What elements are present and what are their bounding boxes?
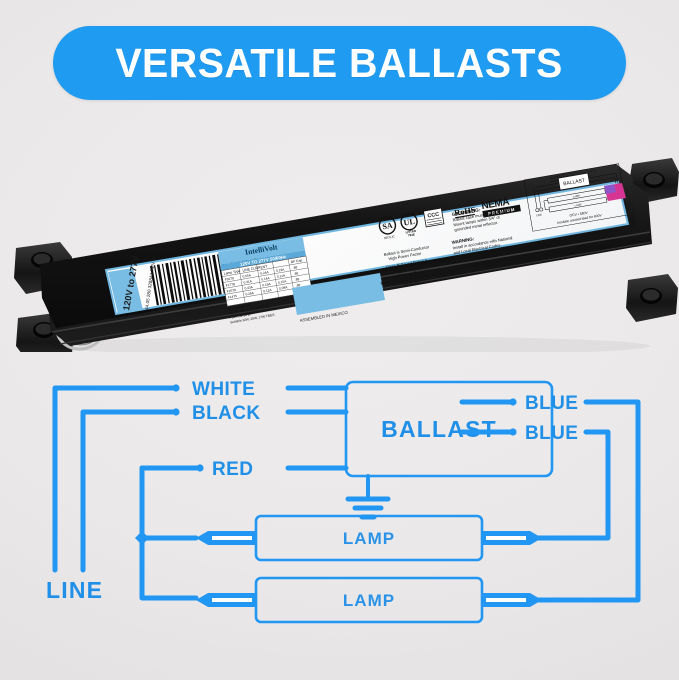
ballast-box-label: BALLAST — [381, 416, 497, 442]
svg-text:.88: .88 — [293, 271, 298, 276]
blue2-terminal — [509, 428, 516, 435]
mounting-bracket-right-top — [626, 274, 678, 322]
lamp-2: LAMP — [196, 578, 542, 622]
svg-text:UL: UL — [403, 217, 415, 228]
label-black: BLACK — [192, 403, 261, 424]
svg-text:.88: .88 — [295, 277, 300, 282]
red-wire-to-lamp2 — [142, 538, 196, 598]
black-wire-terminal — [172, 408, 179, 415]
ccc-mark: CCC — [423, 208, 443, 227]
page-title: VERSATILE BALLASTS — [116, 43, 563, 84]
red-wire-junction — [135, 531, 149, 545]
line-wire-white — [55, 388, 175, 570]
label-blue-2: BLUE — [525, 423, 578, 444]
red-wire-terminal — [196, 464, 203, 471]
wiring-diagram: WHITE BLACK RED BALLAST — [0, 358, 679, 680]
product-photo: 120V to 277V — [0, 132, 679, 352]
lamp-2-label: LAMP — [343, 591, 395, 610]
pink-tag — [604, 183, 626, 201]
label-red: RED — [212, 459, 253, 480]
white-wire-terminal — [172, 384, 179, 391]
lamp-1-label: LAMP — [343, 529, 395, 548]
lamp-1: LAMP — [196, 516, 542, 560]
label-white: WHITE — [192, 379, 255, 400]
infographic-canvas: VERSATILE BALLASTS — [0, 0, 679, 680]
label-blue-1: BLUE — [525, 393, 578, 414]
blue2-wire-route — [512, 432, 608, 538]
header-banner: VERSATILE BALLASTS — [53, 26, 626, 100]
blue1-terminal — [509, 398, 516, 405]
svg-text:.88: .88 — [292, 265, 297, 270]
label-line: LINE — [46, 577, 103, 603]
svg-text:SA: SA — [382, 221, 394, 232]
earth-ground-icon — [348, 499, 388, 517]
line-wire-black — [83, 412, 175, 570]
